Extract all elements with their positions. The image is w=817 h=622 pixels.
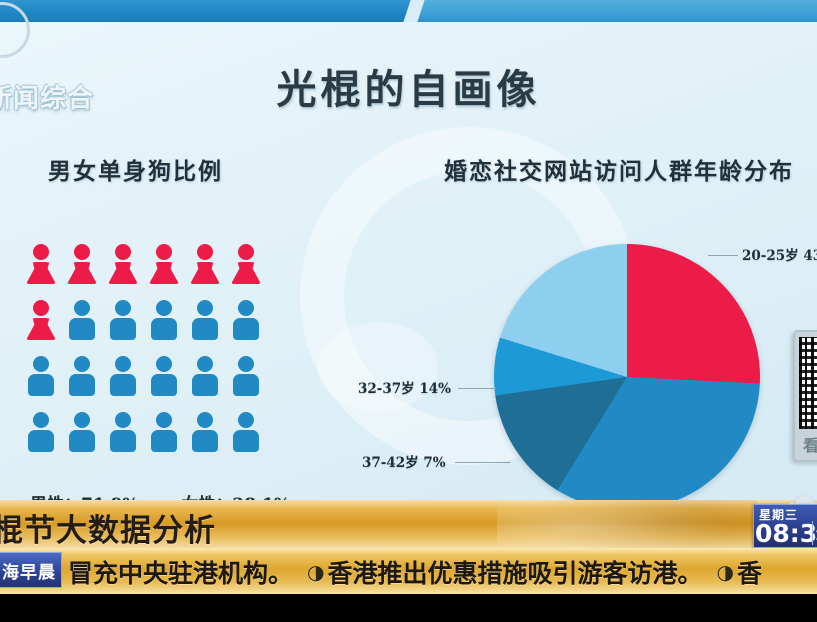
broadcast-screen: 光棍的自画像 男女单身狗比例 婚恋社交网站访问人群年龄分布 男性：71.9% 女…: [0, 0, 817, 622]
person-head-icon: [74, 412, 90, 428]
pie-leader-line: [458, 388, 496, 389]
ticker-bullet-icon: ◑: [716, 560, 733, 584]
person-body-icon: [110, 318, 136, 340]
person-body-icon: [151, 318, 177, 340]
ticker-item-text: 香: [737, 554, 762, 590]
pictogram-icon-male: [67, 412, 97, 452]
pictogram-chart: [26, 244, 272, 468]
person-head-icon: [74, 244, 90, 260]
pictogram-legend: 男性：71.9% 女性：28.1%: [30, 490, 290, 500]
person-head-icon: [238, 412, 254, 428]
background-blob-decoration: [318, 322, 438, 412]
person-body-icon: [69, 318, 95, 340]
person-head-icon: [115, 244, 131, 260]
legend-female: 女性：28.1%: [181, 490, 290, 500]
pictogram-icon-female: [231, 244, 261, 284]
person-head-icon: [33, 244, 49, 260]
person-body-icon: [69, 430, 95, 452]
ticker-program-badge: 海早晨: [0, 552, 62, 588]
pie-slice-label: 37-42岁 7%: [362, 451, 446, 471]
clock-widget: 星期三 08:30 13: [753, 504, 817, 548]
headline-text: 棍节大数据分析: [0, 505, 216, 548]
person-head-icon: [33, 356, 49, 372]
ticker-item-text: 冒充中央驻港机构。: [68, 554, 293, 590]
letterbox-bar: [0, 594, 817, 622]
right-chart-title: 婚恋社交网站访问人群年龄分布: [444, 152, 794, 186]
person-head-icon: [33, 412, 49, 428]
pictogram-icon-male: [190, 412, 220, 452]
person-head-icon: [156, 244, 172, 260]
ticker-item-list: 冒充中央驻港机构。◑香港推出优惠措施吸引游客访港。◑香: [68, 554, 762, 590]
clock-divider: [812, 521, 813, 545]
person-body-icon: [26, 262, 56, 284]
pictogram-icon-male: [26, 356, 56, 396]
pie-slice-label: 20-25岁 43%: [742, 244, 817, 264]
pictogram-icon-male: [190, 300, 220, 340]
pictogram-icon-male: [231, 356, 261, 396]
person-body-icon: [231, 262, 261, 284]
person-head-icon: [156, 356, 172, 372]
person-head-icon: [156, 300, 172, 316]
person-head-icon: [115, 412, 131, 428]
person-body-icon: [110, 430, 136, 452]
pie-disc: [494, 244, 760, 500]
person-head-icon: [115, 356, 131, 372]
qr-code-widget[interactable]: 看: [793, 330, 817, 462]
pictogram-icon-male: [108, 412, 138, 452]
person-body-icon: [110, 374, 136, 396]
person-head-icon: [197, 300, 213, 316]
pictogram-icon-male: [149, 356, 179, 396]
legend-male: 男性：71.9%: [30, 490, 139, 500]
ticker-item: ◑香港推出优惠措施吸引游客访港。: [307, 554, 702, 590]
pictogram-icon-female: [67, 244, 97, 284]
person-body-icon: [149, 262, 179, 284]
person-head-icon: [197, 356, 213, 372]
person-body-icon: [192, 318, 218, 340]
person-body-icon: [108, 262, 138, 284]
person-body-icon: [67, 262, 97, 284]
pie-leader-line: [708, 255, 738, 256]
pictogram-icon-male: [231, 412, 261, 452]
news-ticker: 海早晨 冒充中央驻港机构。◑香港推出优惠措施吸引游客访港。◑香: [0, 548, 817, 594]
person-head-icon: [74, 356, 90, 372]
pictogram-icon-male: [190, 356, 220, 396]
person-body-icon: [151, 430, 177, 452]
person-body-icon: [28, 374, 54, 396]
pictogram-icon-female: [190, 244, 220, 284]
pictogram-icon-male: [149, 300, 179, 340]
pie-chart: [494, 244, 760, 500]
pictogram-icon-male: [67, 356, 97, 396]
person-head-icon: [33, 300, 49, 316]
qr-code-icon: [799, 337, 817, 429]
ticker-bullet-icon: ◑: [307, 560, 324, 584]
pictogram-icon-male: [108, 300, 138, 340]
person-body-icon: [151, 374, 177, 396]
person-body-icon: [190, 262, 220, 284]
left-chart-title: 男女单身狗比例: [48, 152, 223, 186]
person-head-icon: [74, 300, 90, 316]
ticker-item: 冒充中央驻港机构。: [68, 554, 293, 590]
person-head-icon: [115, 300, 131, 316]
ticker-item-text: 香港推出优惠措施吸引游客访港。: [327, 554, 702, 590]
person-body-icon: [233, 318, 259, 340]
person-head-icon: [156, 412, 172, 428]
qr-caption: 看: [803, 432, 817, 456]
pie-slice-label: 32-37岁 14%: [358, 377, 451, 397]
person-body-icon: [69, 374, 95, 396]
person-head-icon: [238, 356, 254, 372]
person-body-icon: [26, 318, 56, 340]
slide-area: 光棍的自画像 男女单身狗比例 婚恋社交网站访问人群年龄分布 男性：71.9% 女…: [0, 22, 817, 500]
pictogram-icon-male: [231, 300, 261, 340]
pictogram-icon-female: [26, 244, 56, 284]
pictogram-icon-male: [67, 300, 97, 340]
person-head-icon: [197, 412, 213, 428]
pictogram-icon-male: [108, 356, 138, 396]
person-body-icon: [28, 430, 54, 452]
top-bar-right: [415, 0, 817, 22]
pictogram-icon-female: [26, 300, 56, 340]
person-body-icon: [192, 430, 218, 452]
ticker-item: ◑香: [716, 554, 761, 590]
pictogram-icon-female: [108, 244, 138, 284]
person-body-icon: [192, 374, 218, 396]
person-head-icon: [238, 244, 254, 260]
person-head-icon: [238, 300, 254, 316]
pictogram-icon-female: [149, 244, 179, 284]
person-head-icon: [197, 244, 213, 260]
person-body-icon: [233, 374, 259, 396]
pictogram-icon-male: [26, 412, 56, 452]
station-logo-text: 新闻综合: [0, 78, 94, 115]
page-title: 光棍的自画像: [0, 57, 817, 115]
pie-leader-line: [455, 462, 510, 463]
person-body-icon: [233, 430, 259, 452]
pictogram-icon-male: [149, 412, 179, 452]
headline-band: 棍节大数据分析: [0, 500, 817, 548]
ticker-program-label: 海早晨: [2, 558, 56, 583]
clock-time: 08:30: [755, 519, 817, 548]
